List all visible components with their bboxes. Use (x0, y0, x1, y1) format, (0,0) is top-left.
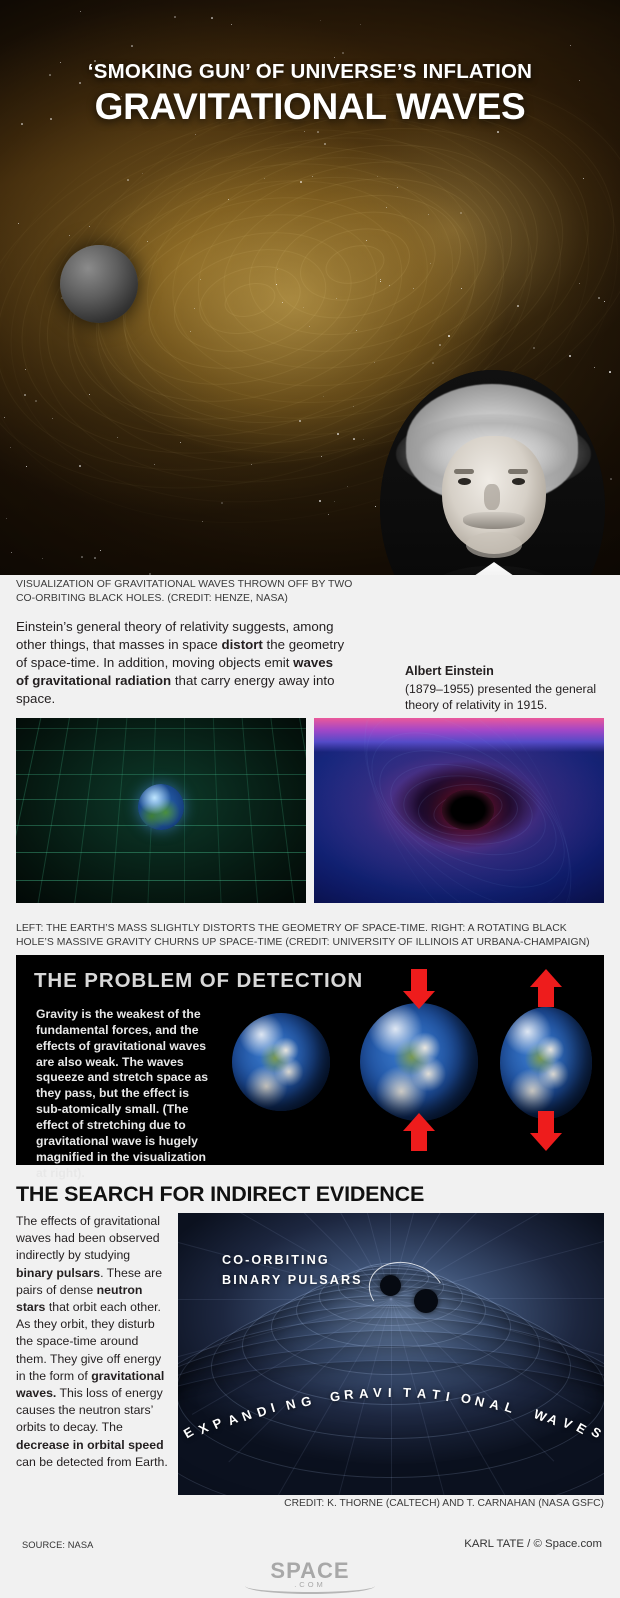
einstein-detail: (1879–1955) presented the general theory… (405, 682, 596, 712)
einstein-caption: Albert Einstein (1879–1955) presented th… (405, 663, 605, 714)
neutron-star-pair (378, 1271, 448, 1317)
search-bold-decrease-speed: decrease in orbital speed (16, 1438, 164, 1452)
earth-squeeze-diagram (228, 969, 600, 1159)
infographic-page: ‘SMOKING GUN’ OF UNIVERSE’S INFLATION GR… (0, 0, 620, 1598)
einstein-portrait (380, 370, 605, 575)
pulsar-label-line1: CO-ORBITING (222, 1251, 363, 1271)
strip-caption: LEFT: THE EARTH’S MASS SLIGHTLY DISTORTS… (16, 922, 606, 950)
binary-pulsar-illustration: CO-ORBITING BINARY PULSARS EXPANDING GRA… (178, 1213, 604, 1495)
einstein-eye-left (458, 478, 471, 485)
detection-body: Gravity is the weakest of the fundamenta… (36, 1007, 216, 1181)
expanding-waves-label: EXPANDING GRAVITATIONAL WAVES (178, 1363, 604, 1473)
black-hole-sphere (60, 245, 138, 323)
rotating-black-hole-image (314, 718, 604, 903)
einstein-nose (484, 484, 500, 510)
hero-title-block: ‘SMOKING GUN’ OF UNIVERSE’S INFLATION GR… (0, 60, 620, 128)
earth-globe-normal (232, 1013, 330, 1111)
einstein-brow-right (508, 469, 528, 474)
hero-kicker: ‘SMOKING GUN’ OF UNIVERSE’S INFLATION (0, 60, 620, 84)
einstein-brow-left (454, 469, 474, 474)
black-hole-core (442, 790, 494, 830)
intro-bold-distort: distort (221, 637, 262, 652)
image-strip (16, 718, 604, 903)
search-text-a: The effects of gravitational waves had b… (16, 1214, 160, 1262)
byline: KARL TATE / © Space.com (464, 1538, 602, 1550)
search-bold-binary-pulsars: binary pulsars (16, 1266, 100, 1280)
space-com-logo[interactable]: SPACE .COM (0, 1558, 620, 1589)
spacetime-grid-image (16, 718, 306, 903)
logo-swoosh (245, 1578, 375, 1594)
source-note: SOURCE: NASA (22, 1540, 93, 1550)
einstein-chin (466, 532, 522, 558)
earth-globe-squeezed (360, 1003, 478, 1121)
earth-globe-stretched (500, 1007, 592, 1119)
intro-paragraph: Einstein’s general theory of relativity … (16, 618, 346, 708)
einstein-name: Albert Einstein (405, 663, 605, 680)
hero-image: ‘SMOKING GUN’ OF UNIVERSE’S INFLATION GR… (0, 0, 620, 575)
earth-globe-small (138, 784, 184, 830)
hero-caption: VISUALIZATION OF GRAVITATIONAL WAVES THR… (16, 578, 361, 606)
search-heading: THE SEARCH FOR INDIRECT EVIDENCE (16, 1182, 424, 1207)
pulsar-credit: CREDIT: K. THORNE (CALTECH) AND T. CARNA… (0, 1498, 604, 1509)
einstein-eye-right (512, 478, 525, 485)
pulsar-illustration-label: CO-ORBITING BINARY PULSARS (222, 1251, 363, 1290)
detection-panel: THE PROBLEM OF DETECTION Gravity is the … (16, 955, 604, 1165)
einstein-moustache (463, 512, 525, 529)
search-text-i: can be detected from Earth. (16, 1455, 168, 1469)
page-title: GRAVITATIONAL WAVES (0, 86, 620, 128)
pulsar-label-line2: BINARY PULSARS (222, 1271, 363, 1291)
search-paragraph: The effects of gravitational waves had b… (16, 1213, 168, 1471)
